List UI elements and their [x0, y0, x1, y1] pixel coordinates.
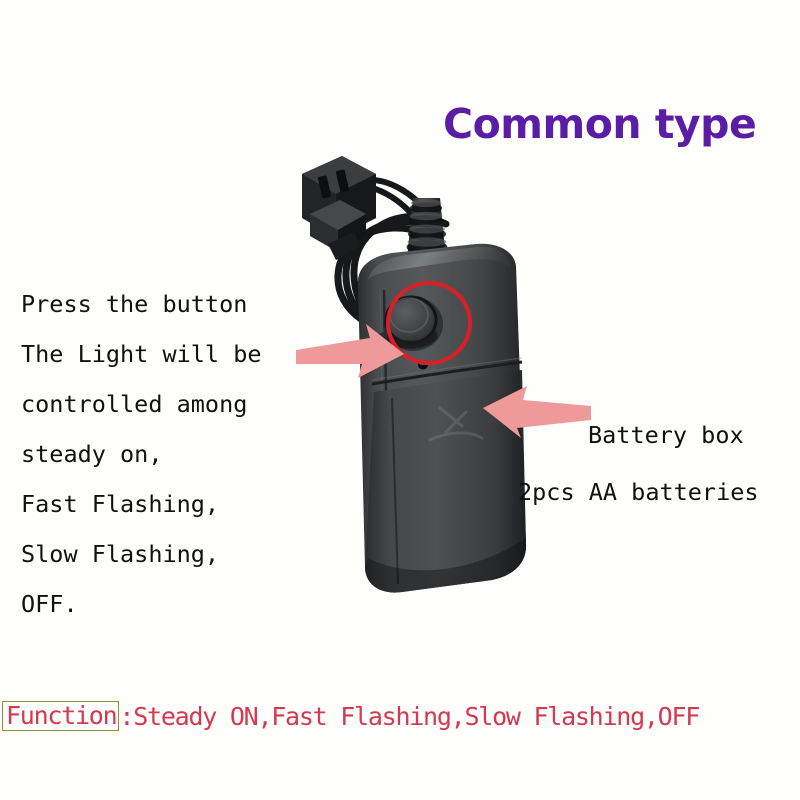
arrow-to-battery-box-icon [483, 386, 591, 442]
function-label-box: Function [2, 701, 119, 731]
infographic-page: Common type [0, 0, 800, 800]
battery-box-label: Battery box [588, 421, 744, 449]
function-banner: Function : Steady ON,Fast Flashing,Slow … [0, 696, 800, 736]
instruction-line: steady on, [21, 429, 331, 479]
function-separator: : [119, 704, 133, 729]
instruction-line: Slow Flashing, [21, 529, 331, 579]
function-modes-text: Steady ON,Fast Flashing,Slow Flashing,OF… [133, 704, 699, 729]
instruction-line: Fast Flashing, [21, 479, 331, 529]
instruction-line: controlled among [21, 379, 331, 429]
batteries-label: 2pcs AA batteries [518, 478, 759, 506]
instruction-text-block: Press the button The Light will be contr… [21, 279, 331, 629]
instruction-line: OFF. [21, 579, 331, 629]
instruction-line: Press the button [21, 279, 331, 329]
instruction-line: The Light will be [21, 329, 331, 379]
